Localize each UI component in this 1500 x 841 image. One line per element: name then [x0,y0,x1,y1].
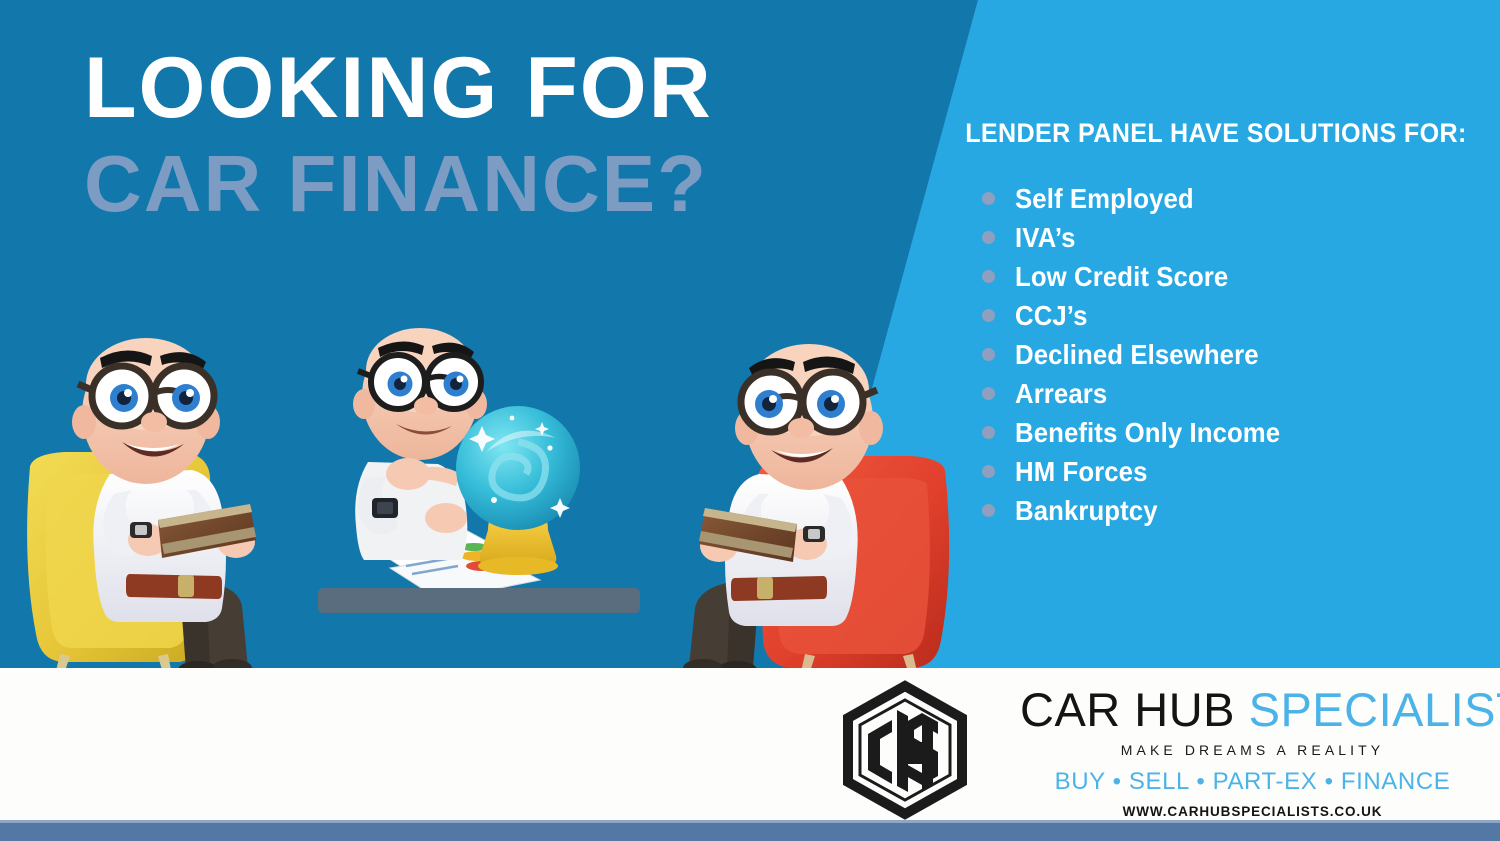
brand-name: CAR HUB SPECIALIST [1020,686,1485,733]
bullet-icon [982,309,995,322]
bullet-icon [982,348,995,361]
list-item-label: Arrears [1015,378,1107,410]
list-item-label: Benefits Only Income [1015,417,1280,449]
bullet-icon [982,231,995,244]
car-finance-banner: LOOKING FOR CAR FINANCE? [0,0,1500,841]
list-item-label: Declined Elsewhere [1015,339,1259,371]
bullet-icon [982,504,995,517]
bullet-icon [982,426,995,439]
headline-secondary: CAR FINANCE? [84,144,864,224]
bullet-icon [982,270,995,283]
solutions-list: Self Employed IVA’s Low Credit Score CCJ… [940,183,1492,526]
illustration-center-character [336,322,626,602]
list-item: Low Credit Score [982,261,1492,292]
bullet-icon [982,387,995,400]
list-item: Arrears [982,378,1492,409]
brand-wordmark: CAR HUB SPECIALIST MAKE DREAMS A REALITY… [1020,686,1485,819]
solutions-panel-heading: LENDER PANEL HAVE SOLUTIONS FOR: [959,118,1472,149]
brand-name-black: CAR HUB [1020,683,1235,736]
brand-tagline: MAKE DREAMS A REALITY [1020,742,1485,758]
brand-website-url[interactable]: WWW.CARHUBSPECIALISTS.CO.UK [1020,804,1485,819]
list-item-label: Bankruptcy [1015,495,1158,527]
list-item: Declined Elsewhere [982,339,1492,370]
brand-name-blue: SPECIALIST [1249,683,1500,736]
headline-block: LOOKING FOR CAR FINANCE? [84,46,864,224]
list-item-label: Low Credit Score [1015,261,1228,293]
list-item: Benefits Only Income [982,417,1492,448]
solutions-panel: LENDER PANEL HAVE SOLUTIONS FOR: Self Em… [940,118,1492,534]
bottom-accent-strip [0,820,1500,841]
chs-hexagon-logo-icon [840,680,970,820]
list-item: Bankruptcy [982,495,1492,526]
brand-services: BUY • SELL • PART-EX • FINANCE [1020,768,1485,796]
list-item: Self Employed [982,183,1492,214]
list-item-label: HM Forces [1015,456,1148,488]
illustration-left-character [18,318,318,678]
list-item-label: IVA’s [1015,222,1076,254]
desk-surface-bar [318,588,640,613]
list-item-label: CCJ’s [1015,300,1088,332]
list-item: CCJ’s [982,300,1492,331]
list-item: IVA’s [982,222,1492,253]
list-item-label: Self Employed [1015,183,1194,215]
headline-primary: LOOKING FOR [84,46,864,130]
bullet-icon [982,465,995,478]
illustration-right-character [645,330,965,678]
bullet-icon [982,192,995,205]
list-item: HM Forces [982,456,1492,487]
